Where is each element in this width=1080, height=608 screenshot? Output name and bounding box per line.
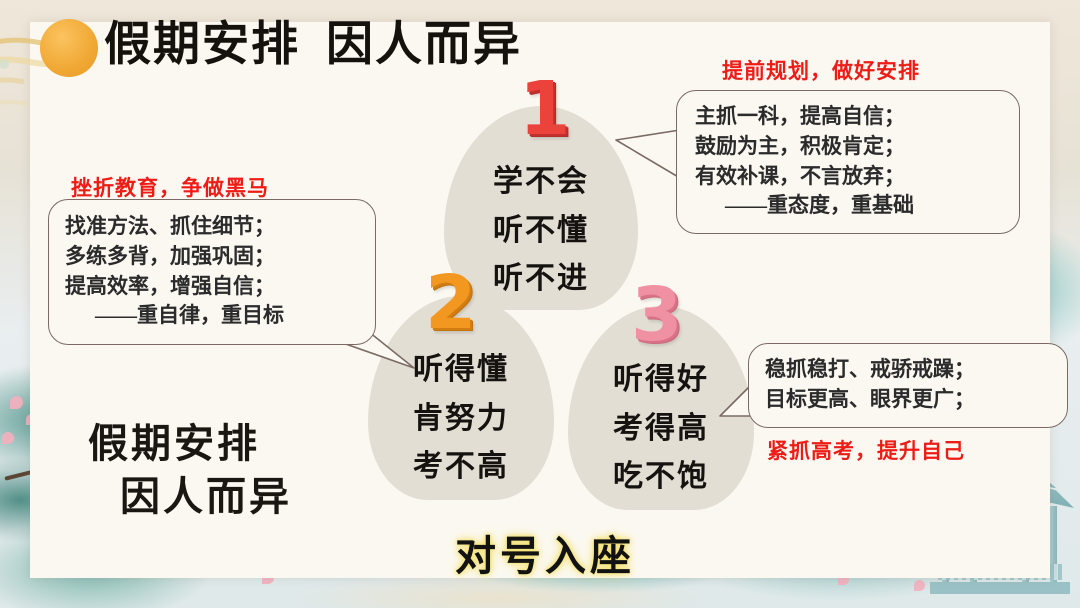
mound-2-line-3: 考不高 <box>368 443 554 492</box>
callout-left[interactable]: 找准方法、抓住细节； 多练多背，加强巩固； 提高效率，增强自信； ——重自律，重… <box>48 199 376 345</box>
callout-left-line-2: 多练多背，加强巩固； <box>65 242 361 272</box>
mound-2-number: 2 <box>425 266 477 340</box>
bottom-left-text: 假期安排 因人而异 <box>88 418 292 524</box>
callout-right-line-3: 有效补课，不言放弃； <box>695 162 1005 192</box>
mound-2-line-2: 肯努力 <box>368 395 554 444</box>
bottom-left-line-2: 因人而异 <box>120 471 292 524</box>
callout-right-line-1: 主抓一科，提高自信； <box>695 102 1005 132</box>
page-title: 假期安排因人而异 <box>104 22 522 69</box>
callout-right-line-4: ——重态度，重基础 <box>695 191 1005 221</box>
page-title-part1: 假期安排 <box>104 19 300 71</box>
slogan-bottom-right: 紧抓高考，提升自己 <box>767 435 965 465</box>
mound-3-line-2: 考得高 <box>568 405 754 454</box>
sun-icon <box>40 19 98 77</box>
mound-3-line-3: 吃不饱 <box>568 453 754 502</box>
blossom-icon <box>2 432 14 444</box>
mound-2-text: 听得懂 肯努力 考不高 <box>368 346 554 492</box>
slide-canvas: 假期安排因人而异 学不会 听不懂 听不进 1 听得懂 肯努力 考不高 2 听得好… <box>0 0 1080 608</box>
callout-left-line-1: 找准方法、抓住细节； <box>65 212 361 242</box>
mound-1-line-1: 学不会 <box>444 158 638 207</box>
callout-left-line-3: 提高效率，增强自信； <box>65 272 361 302</box>
slogan-right: 提前规划，做好安排 <box>722 55 920 85</box>
bottom-center-text: 对号入座 <box>455 522 635 582</box>
callout-left-line-4: ——重自律，重目标 <box>65 301 361 331</box>
slogan-left: 挫折教育，争做黑马 <box>71 172 269 202</box>
callout-right[interactable]: 主抓一科，提高自信； 鼓励为主，积极肯定； 有效补课，不言放弃； ——重态度，重… <box>676 90 1020 234</box>
mound-3-number: 3 <box>631 278 683 352</box>
page-title-part2: 因人而异 <box>326 19 522 71</box>
mound-3-line-1: 听得好 <box>568 356 754 405</box>
callout-bottom-right-line-2: 目标更高、眼界更广； <box>765 385 1053 415</box>
blossom-icon <box>10 396 23 409</box>
callout-right-line-2: 鼓励为主，积极肯定； <box>695 132 1005 162</box>
mound-3-text: 听得好 考得高 吃不饱 <box>568 356 754 502</box>
mound-2-line-1: 听得懂 <box>368 346 554 395</box>
callout-bottom-right-line-1: 稳抓稳打、戒骄戒躁； <box>765 355 1053 385</box>
callout-bottom-right[interactable]: 稳抓稳打、戒骄戒躁； 目标更高、眼界更广； <box>748 343 1068 428</box>
mound-1-line-2: 听不懂 <box>444 207 638 256</box>
bottom-left-line-1: 假期安排 <box>88 421 260 466</box>
mound-1-number: 1 <box>519 72 571 146</box>
